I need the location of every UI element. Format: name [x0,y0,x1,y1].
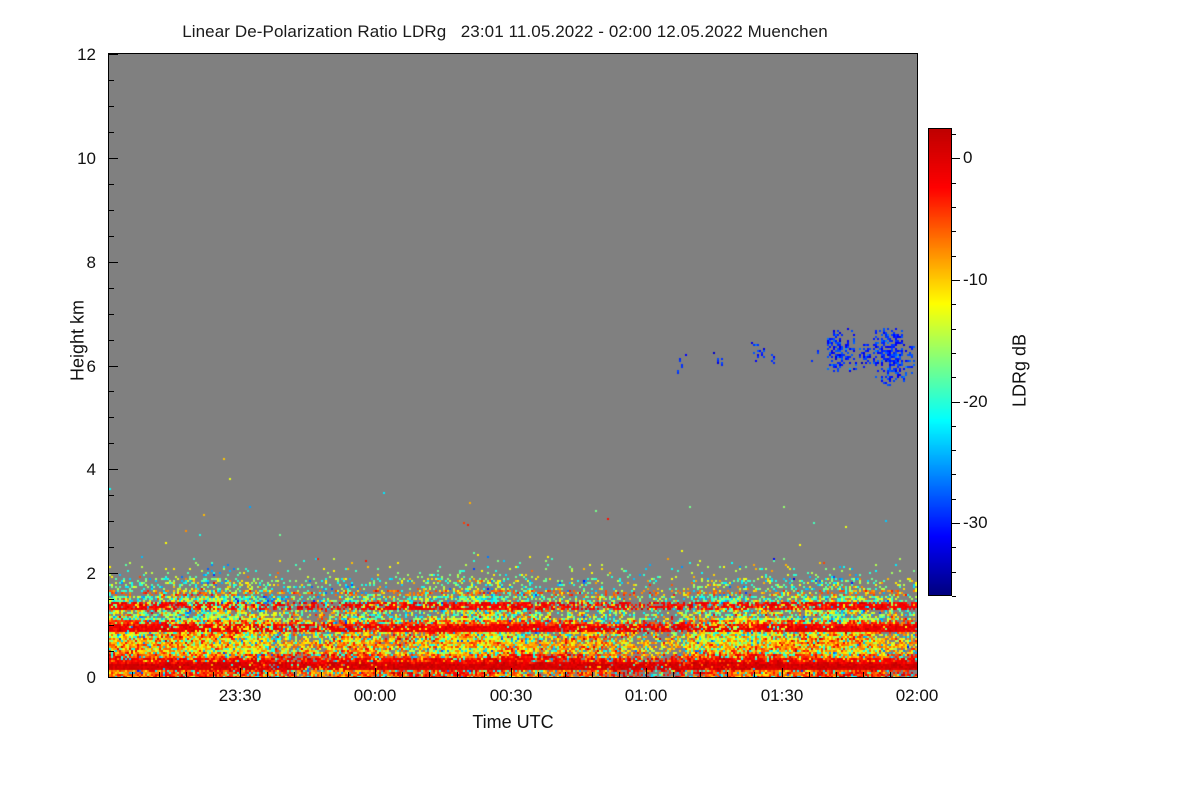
y-tick-minor [109,340,114,341]
colorbar-tick-minor [952,474,956,475]
colorbar-tick-minor [952,377,956,378]
x-tick-minor [213,672,214,677]
x-tick-minor [429,672,430,677]
x-tick-minor [890,672,891,677]
colorbar-tick-minor [952,134,956,135]
heatmap-canvas [109,54,917,677]
colorbar-tick-minor [952,499,956,500]
x-tick-minor [700,672,701,677]
colorbar-tick-minor [952,304,956,305]
y-tick-minor [109,391,114,392]
y-tick-major [109,469,118,470]
x-tick-minor [294,672,295,677]
colorbar-gradient [929,129,951,595]
colorbar [928,128,952,596]
x-tick-label: 02:00 [896,686,939,706]
x-tick-minor [402,672,403,677]
y-tick-minor [109,236,114,237]
x-tick-label: 23:30 [219,686,262,706]
colorbar-tick-major [952,280,960,281]
colorbar-tick-label: -20 [963,392,988,412]
x-tick-minor [836,672,837,677]
y-tick-minor [109,314,114,315]
colorbar-tick-minor [952,596,956,597]
y-tick-label: 10 [36,149,96,169]
y-tick-label: 2 [36,564,96,584]
x-tick-label: 01:30 [761,686,804,706]
colorbar-tick-minor [952,329,956,330]
colorbar-tick-label: 0 [963,148,972,168]
figure-root: Linear De-Polarization Ratio LDRg 23:01 … [0,0,1200,800]
y-tick-label: 12 [36,45,96,65]
colorbar-label: LDRg dB [1010,306,1031,436]
x-tick-minor [565,672,566,677]
x-tick-major [511,668,512,677]
x-tick-major [240,668,241,677]
x-tick-major [375,668,376,677]
x-tick-minor [159,672,160,677]
colorbar-tick-minor [952,547,956,548]
y-tick-major [109,262,118,263]
y-tick-minor [109,625,114,626]
x-tick-minor [592,672,593,677]
x-tick-minor [538,672,539,677]
x-tick-minor [754,672,755,677]
y-tick-minor [109,417,114,418]
y-tick-major [109,366,118,367]
x-tick-major [782,668,783,677]
y-tick-minor [109,443,114,444]
x-tick-minor [457,672,458,677]
x-tick-minor [619,672,620,677]
x-tick-label: 00:00 [354,686,397,706]
x-tick-major [646,668,647,677]
y-tick-minor [109,521,114,522]
colorbar-tick-label: -10 [963,270,988,290]
x-tick-minor [321,672,322,677]
x-tick-minor [348,672,349,677]
y-tick-minor [109,651,114,652]
y-tick-major [109,54,118,55]
colorbar-tick-minor [952,231,956,232]
y-tick-minor [109,210,114,211]
colorbar-tick-label: -30 [963,513,988,533]
colorbar-tick-minor [952,572,956,573]
colorbar-tick-minor [952,450,956,451]
x-tick-minor [727,672,728,677]
plot-area [108,53,918,678]
x-tick-major [917,668,918,677]
y-tick-minor [109,547,114,548]
x-tick-minor [809,672,810,677]
x-axis-label: Time UTC [108,712,918,733]
colorbar-tick-minor [952,183,956,184]
x-tick-minor [863,672,864,677]
page-title: Linear De-Polarization Ratio LDRg 23:01 … [0,22,1010,42]
colorbar-tick-minor [952,256,956,257]
y-tick-minor [109,106,114,107]
y-tick-label: 4 [36,460,96,480]
x-tick-minor [673,672,674,677]
y-tick-minor [109,80,114,81]
colorbar-tick-major [952,158,960,159]
colorbar-tick-major [952,402,960,403]
y-tick-major [109,573,118,574]
y-tick-minor [109,495,114,496]
colorbar-tick-minor [952,426,956,427]
y-axis-label: Height km [68,251,89,431]
colorbar-tick-minor [952,353,956,354]
colorbar-tick-major [952,523,960,524]
y-tick-minor [109,288,114,289]
x-tick-minor [186,672,187,677]
y-tick-major [109,158,118,159]
y-tick-label: 0 [36,668,96,688]
y-tick-minor [109,184,114,185]
x-tick-label: 00:30 [490,686,533,706]
x-tick-minor [132,672,133,677]
y-tick-minor [109,132,114,133]
y-tick-minor [109,599,114,600]
x-tick-minor [484,672,485,677]
x-tick-minor [267,672,268,677]
y-tick-major [109,677,118,678]
colorbar-tick-minor [952,207,956,208]
x-tick-label: 01:00 [625,686,668,706]
